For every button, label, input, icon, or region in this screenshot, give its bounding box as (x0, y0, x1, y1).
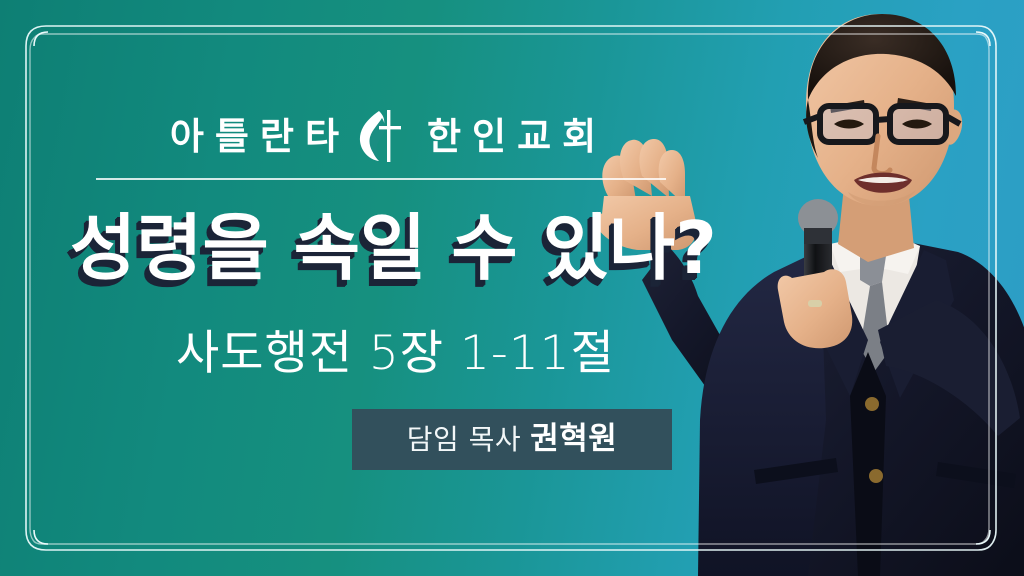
speaker-name: 권혁원 (530, 424, 617, 455)
church-name-left: 아틀란타 (159, 118, 350, 155)
church-name-right: 한인교회 (416, 118, 607, 155)
church-identity: 아틀란타 한인교회 (96, 105, 670, 167)
header-divider (96, 178, 666, 180)
sermon-title-slide: 아틀란타 한인교회 성령을 속일 수 있나? 사도행전 5장 1-11절 담임 … (0, 0, 1024, 576)
sermon-title: 성령을 속일 수 있나? (70, 206, 717, 291)
slide-content: 아틀란타 한인교회 성령을 속일 수 있나? 사도행전 5장 1-11절 담임 … (0, 0, 1024, 576)
speaker-badge: 담임 목사 권혁원 (352, 409, 672, 470)
speaker-role: 담임 목사 (407, 426, 521, 454)
scripture-reference: 사도행전 5장 1-11절 (176, 326, 615, 382)
united-methodist-cross-and-flame-icon (354, 108, 406, 164)
